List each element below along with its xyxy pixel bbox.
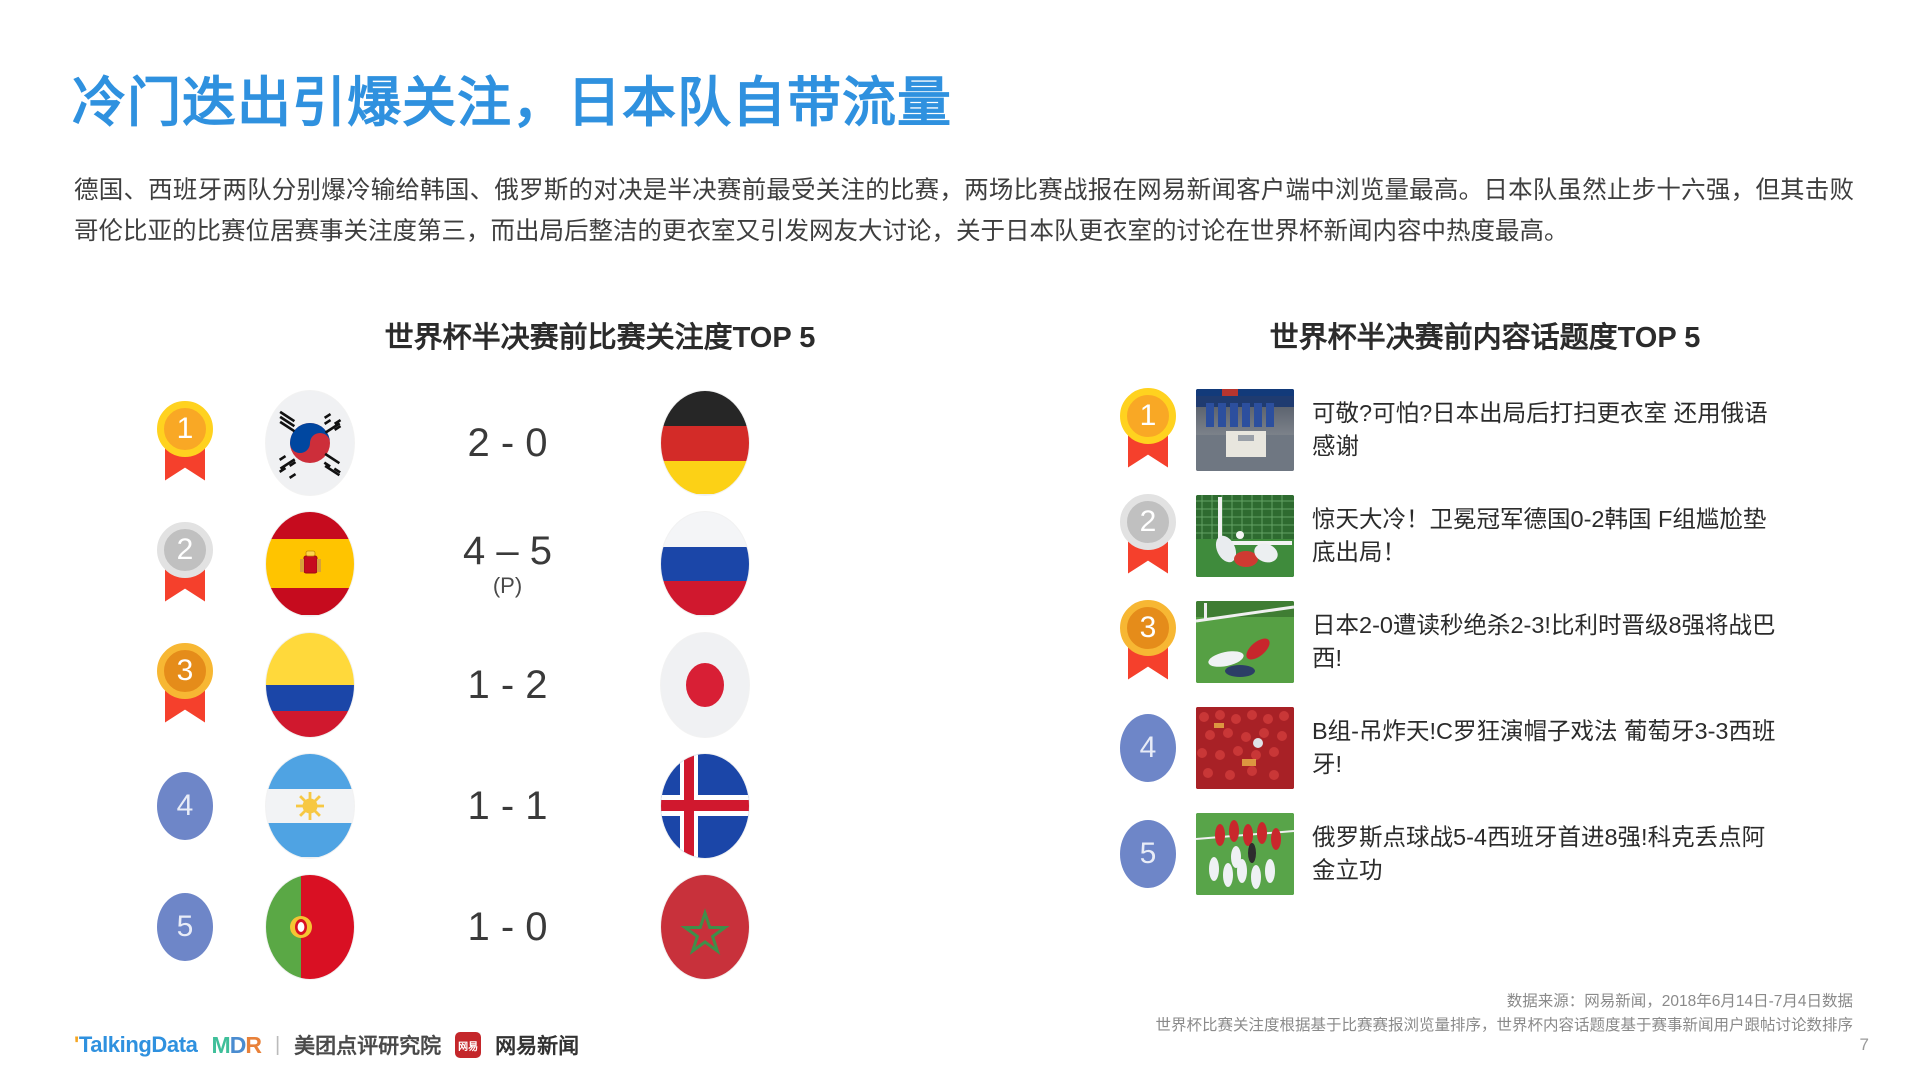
rank-cell: 3 [1100, 600, 1196, 684]
rank-cell: 1 [1100, 388, 1196, 472]
source-line-2: 世界杯比赛关注度根据基于比赛赛报浏览量排序，世界杯内容话题度基于赛事新闻用户跟帖… [1155, 1014, 1853, 1038]
source-line-1: 数据来源：网易新闻，2018年6月14日-7月4日数据 [1155, 990, 1853, 1014]
score-text: 1 - 0 [467, 905, 547, 949]
score-text: 4 – 5 [463, 529, 552, 573]
right-column-heading: 世界杯半决赛前内容话题度TOP 5 [1090, 314, 1880, 356]
news-title: 俄罗斯点球战5-4西班牙首进8强!科克丢点阿金立功 [1312, 821, 1782, 887]
news-title: 日本2-0遭读秒绝杀2-3!比利时晋级8强将战巴西! [1312, 609, 1782, 675]
match-score: 1 - 0 [390, 906, 625, 948]
rank-badge: 5 [1120, 820, 1176, 888]
logo-bar: 'TalkingData MDR | 美团点评研究院 网易 网易新闻 [74, 1030, 579, 1060]
netease-badge-icon: 网易 [455, 1032, 481, 1058]
rank-cell: 1 [140, 401, 230, 485]
match-score: 1 - 1 [390, 785, 625, 827]
rank-cell: 2 [140, 522, 230, 606]
rank-cell: 2 [1100, 494, 1196, 578]
flag-morocco-icon [661, 875, 749, 979]
flag-iceland-icon [661, 754, 749, 858]
red-crowd-photo [1196, 707, 1294, 789]
score-text: 1 - 1 [467, 784, 547, 828]
bronze-medal-icon: 3 [1117, 600, 1179, 684]
match-score: 2 - 0 [390, 422, 625, 464]
rank-cell: 3 [140, 643, 230, 727]
rank-number: 1 [1120, 388, 1176, 444]
flag-spain-icon [266, 512, 354, 616]
news-topic-list: 1 可敬?可怕?日本出局后打扫更衣室 还用俄语感谢 [1100, 380, 1900, 910]
flag-germany-icon [661, 391, 749, 495]
flag-russia-icon [661, 512, 749, 616]
rank-cell: 4 [140, 772, 230, 840]
silver-medal-icon: 2 [154, 522, 216, 606]
rank-badge: 5 [157, 893, 213, 961]
rank-number: 1 [157, 401, 213, 457]
flag-portugal-icon [266, 875, 354, 979]
locker-room-photo [1196, 389, 1294, 471]
rank-badge: 4 [157, 772, 213, 840]
flag-south-korea-icon [266, 391, 354, 495]
match-score: 1 - 2 [390, 664, 625, 706]
list-item[interactable]: 5 [1100, 804, 1900, 903]
players-on-pitch-photo [1196, 601, 1294, 683]
away-flag-cell [625, 512, 785, 616]
slide: 冷门迭出引爆关注，日本队自带流量 德国、西班牙两队分别爆冷输给韩国、俄罗斯的对决… [0, 0, 1921, 1080]
netease-news-logo: 网易新闻 [495, 1030, 579, 1060]
away-flag-cell [625, 633, 785, 737]
away-flag-cell [625, 754, 785, 858]
meituan-research-logo: 美团点评研究院 [294, 1030, 441, 1060]
home-flag-cell [230, 391, 390, 495]
flag-colombia-icon [266, 633, 354, 737]
score-text: 1 - 2 [467, 663, 547, 707]
home-flag-cell [230, 512, 390, 616]
celebration-photo [1196, 813, 1294, 895]
page-number: 7 [1860, 1035, 1869, 1055]
rank-cell: 5 [1100, 820, 1196, 888]
talkingdata-logo: 'TalkingData [74, 1032, 198, 1058]
list-item[interactable]: 1 可敬?可怕?日本出局后打扫更衣室 还用俄语感谢 [1100, 380, 1900, 479]
match-row[interactable]: 1 [140, 382, 940, 503]
match-row[interactable]: 2 4 – 5 (P) [140, 503, 940, 624]
rank-cell: 5 [140, 893, 230, 961]
lead-paragraph: 德国、西班牙两队分别爆冷输给韩国、俄罗斯的对决是半决赛前最受关注的比赛，两场比赛… [74, 170, 1854, 252]
score-text: 2 - 0 [467, 421, 547, 465]
match-score: 4 – 5 (P) [390, 530, 625, 597]
away-flag-cell [625, 391, 785, 495]
source-note: 数据来源：网易新闻，2018年6月14日-7月4日数据 世界杯比赛关注度根据基于… [1155, 990, 1853, 1038]
rank-cell: 4 [1100, 714, 1196, 782]
home-flag-cell [230, 754, 390, 858]
gold-medal-icon: 1 [154, 401, 216, 485]
flag-argentina-icon [266, 754, 354, 858]
mdr-d: D [230, 1032, 246, 1058]
left-column-heading: 世界杯半决赛前比赛关注度TOP 5 [280, 314, 920, 356]
away-flag-cell [625, 875, 785, 979]
news-title: 可敬?可怕?日本出局后打扫更衣室 还用俄语感谢 [1312, 397, 1782, 463]
match-attention-list: 1 [140, 382, 940, 987]
list-item[interactable]: 4 [1100, 698, 1900, 797]
score-note: (P) [390, 574, 625, 597]
talkingdata-logo-text: TalkingData [79, 1032, 198, 1057]
home-flag-cell [230, 875, 390, 979]
gold-medal-icon: 1 [1117, 388, 1179, 472]
rank-number: 3 [1120, 600, 1176, 656]
news-title: B组-吊炸天!C罗狂演帽子戏法 葡萄牙3-3西班牙! [1312, 715, 1782, 781]
list-item[interactable]: 2 惊天大冷！卫冕冠 [1100, 486, 1900, 585]
rank-badge: 4 [1120, 714, 1176, 782]
goal-mouth-photo [1196, 495, 1294, 577]
mdr-m: M [212, 1032, 230, 1058]
silver-medal-icon: 2 [1117, 494, 1179, 578]
flag-japan-icon [661, 633, 749, 737]
logo-divider: | [275, 1034, 280, 1057]
rank-number: 2 [1120, 494, 1176, 550]
news-title: 惊天大冷！卫冕冠军德国0-2韩国 F组尴尬垫底出局！ [1312, 503, 1782, 569]
mdr-r: R [245, 1032, 261, 1058]
list-item[interactable]: 3 日本2-0遭读秒绝杀2-3!比利时晋级8强将战巴西! [1100, 592, 1900, 691]
match-row[interactable]: 5 1 - 0 [140, 866, 940, 987]
rank-number: 2 [157, 522, 213, 578]
home-flag-cell [230, 633, 390, 737]
match-row[interactable]: 3 1 - 2 [140, 624, 940, 745]
match-row[interactable]: 4 [140, 745, 940, 866]
mdr-logo: MDR [212, 1032, 261, 1059]
rank-number: 3 [157, 643, 213, 699]
page-title: 冷门迭出引爆关注，日本队自带流量 [72, 58, 952, 137]
bronze-medal-icon: 3 [154, 643, 216, 727]
